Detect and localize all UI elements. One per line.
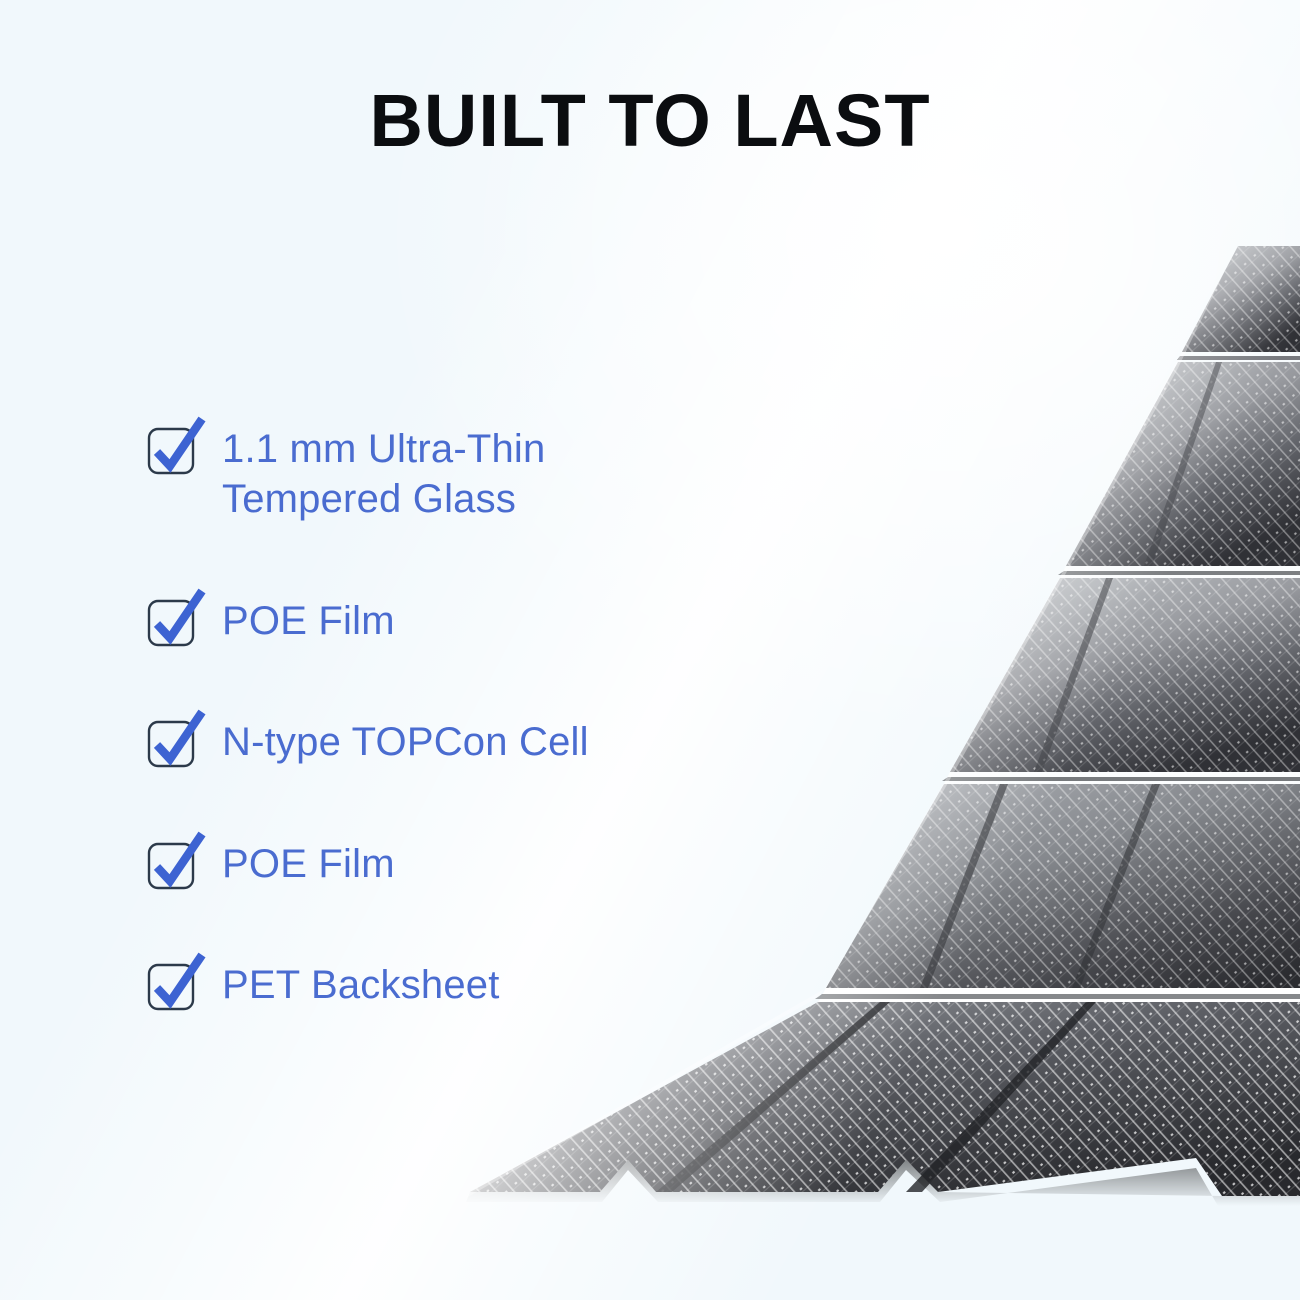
- checkbox-checked-icon: [148, 428, 192, 472]
- list-item: POE Film: [148, 839, 708, 889]
- list-item-label: 1.1 mm Ultra-Thin Tempered Glass: [222, 424, 545, 525]
- checkbox-checked-icon: [148, 843, 192, 887]
- feature-list: 1.1 mm Ultra-Thin Tempered Glass POE Fil…: [148, 424, 708, 1010]
- list-item: N-type TOPCon Cell: [148, 717, 708, 767]
- checkbox-checked-icon: [148, 964, 192, 1008]
- list-item-label: N-type TOPCon Cell: [222, 717, 589, 767]
- checkbox-checked-icon: [148, 600, 192, 644]
- list-item: POE Film: [148, 596, 708, 646]
- product-feature-banner: BUILT TO LAST 1.1 mm Ultra-Thin Tempered…: [0, 0, 1300, 1300]
- list-item: 1.1 mm Ultra-Thin Tempered Glass: [148, 424, 708, 525]
- checkbox-checked-icon: [148, 721, 192, 765]
- list-item-label: POE Film: [222, 839, 395, 889]
- list-item-label: PET Backsheet: [222, 960, 500, 1010]
- list-item-label: POE Film: [222, 596, 395, 646]
- page-title: BUILT TO LAST: [0, 84, 1300, 158]
- list-item: PET Backsheet: [148, 960, 708, 1010]
